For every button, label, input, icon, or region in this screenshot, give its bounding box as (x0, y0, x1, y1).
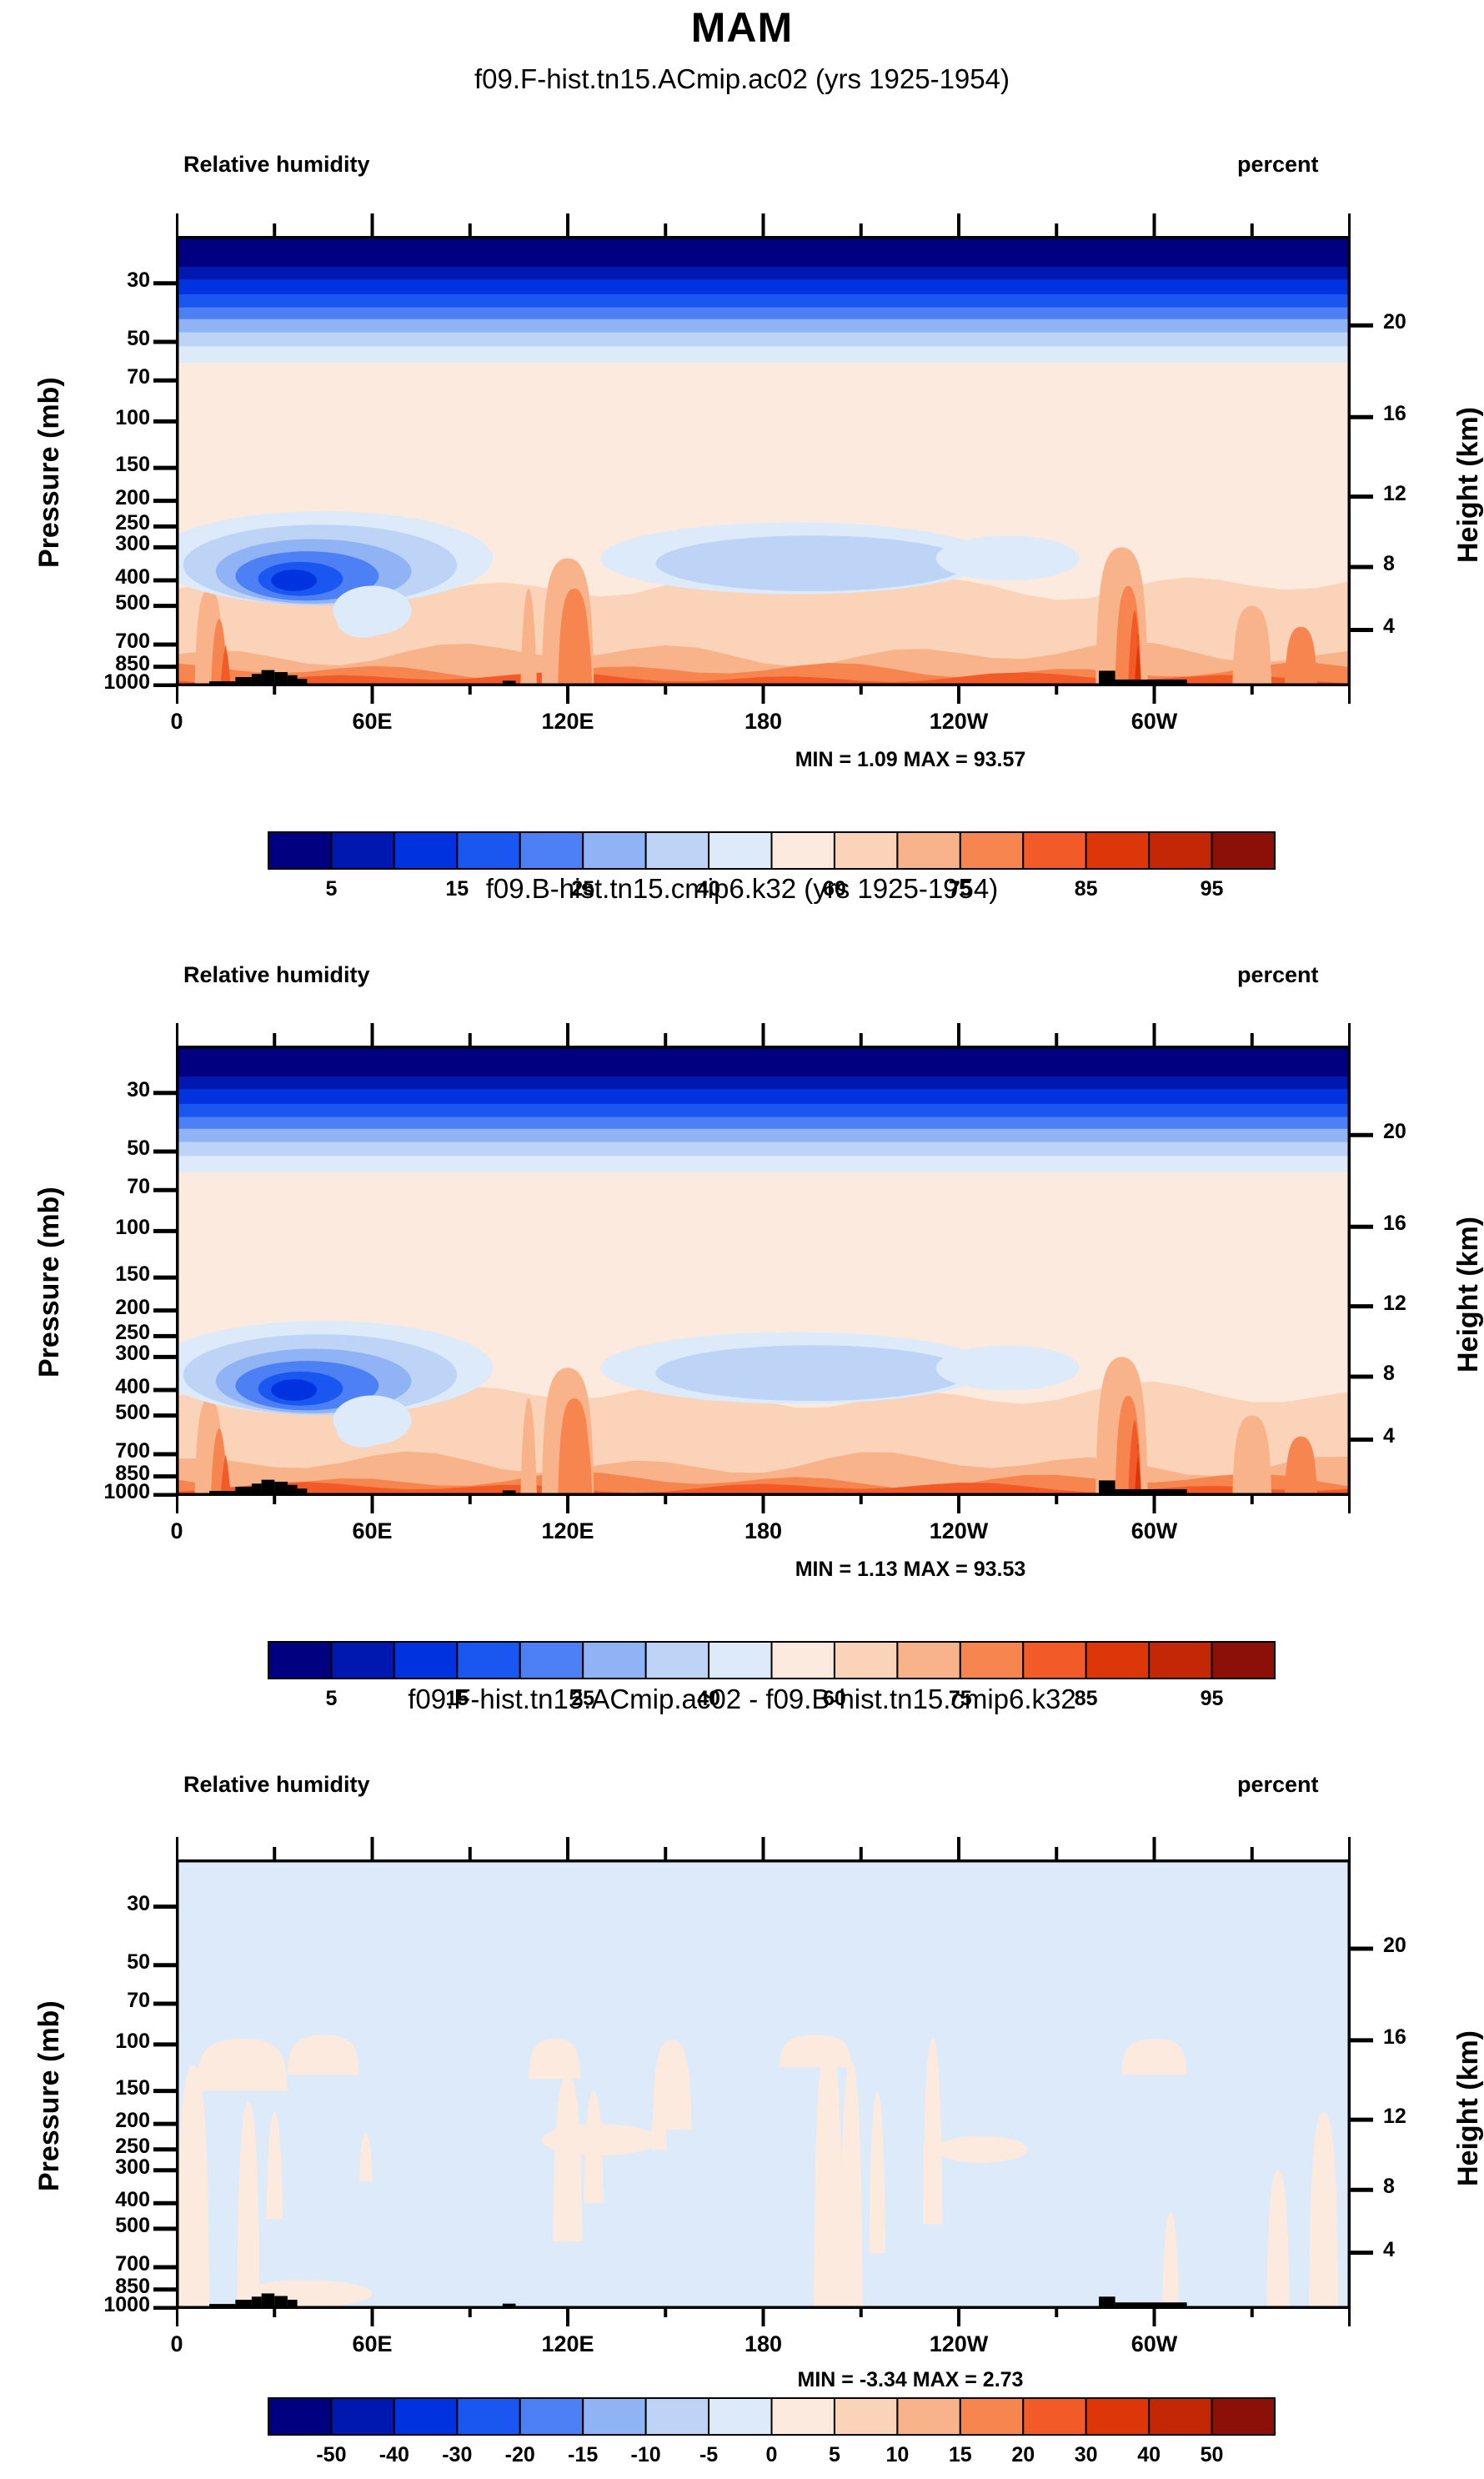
panel-1-minmax: MIN = 1.09 MAX = 93.57 (677, 748, 1144, 772)
panel-1-lon-tick: 0 (118, 709, 235, 735)
panel-1-height-tick: 4 (1383, 615, 1458, 639)
panel-3-units-label: percent (1237, 1772, 1319, 1798)
panel-2-lon-tick: 180 (705, 1518, 822, 1544)
panel-3-variable-label: Relative humidity (183, 1772, 370, 1798)
panel-1-height-tick: 8 (1383, 552, 1458, 576)
panel-1-pressure-tick: 700 (33, 630, 150, 654)
panel-1-height-tick: 12 (1383, 482, 1458, 506)
panel-1-colorbar (267, 831, 1276, 871)
panel-2-pressure-tick: 200 (33, 1296, 150, 1320)
panel-2-height-tick: 16 (1383, 1212, 1458, 1236)
panel-3-height-tick: 20 (1383, 1934, 1458, 1958)
panel-2-colorbar-label: 95 (1162, 1687, 1262, 1711)
panel-1-pressure-tick: 1000 (33, 670, 150, 695)
panel-2-lon-tick: 60E (314, 1518, 431, 1544)
panel-1-colorbar-label: 75 (910, 877, 1010, 901)
panel-1-height-tick: 20 (1383, 310, 1458, 334)
panel-1-title: f09.F-hist.tn15.ACmip.ac02 (yrs 1925-195… (0, 63, 1484, 95)
panel-3-pressure-tick: 1000 (33, 2293, 150, 2317)
panel-1-variable-label: Relative humidity (183, 152, 370, 178)
panel-2-pressure-tick: 70 (33, 1175, 150, 1199)
panel-3-pressure-tick: 300 (33, 2155, 150, 2180)
panel-2-colorbar-label: 25 (533, 1687, 633, 1711)
panel-2-plot (176, 1046, 1351, 1496)
panel-2-lon-tick: 60W (1096, 1518, 1213, 1544)
panel-1-colorbar-label: 40 (659, 877, 759, 901)
panel-3-colorbar-label: 50 (1162, 2443, 1262, 2467)
panel-2-colorbar (267, 1640, 1276, 1680)
panel-3-lon-tick: 180 (705, 2331, 822, 2357)
panel-1-units-label: percent (1237, 152, 1319, 178)
panel-3-pressure-tick: 150 (33, 2076, 150, 2100)
panel-3-height-tick: 16 (1383, 2025, 1458, 2050)
panel-2-colorbar-label: 40 (659, 1687, 759, 1711)
panel-1-colorbar-label: 15 (407, 877, 507, 901)
panel-3-minmax: MIN = -3.34 MAX = 2.73 (677, 2368, 1144, 2392)
panel-1-pressure-tick: 30 (33, 268, 150, 293)
panel-2-colorbar-label: 60 (785, 1687, 885, 1711)
panel-2-minmax: MIN = 1.13 MAX = 93.53 (677, 1558, 1144, 1582)
panel-2-height-tick: 20 (1383, 1120, 1458, 1144)
panel-2-pressure-tick: 300 (33, 1342, 150, 1366)
panel-1-lon-tick: 180 (705, 709, 822, 735)
panel-1-pressure-tick: 50 (33, 327, 150, 351)
panel-2-height-tick: 4 (1383, 1424, 1458, 1448)
panel-2-pressure-tick: 30 (33, 1078, 150, 1102)
panel-1-lon-tick: 120W (900, 709, 1017, 735)
panel-1-colorbar-label: 95 (1162, 877, 1262, 901)
panel-2-colorbar-label: 15 (407, 1687, 507, 1711)
panel-1-pressure-tick: 400 (33, 565, 150, 590)
panel-1-pressure-tick: 150 (33, 453, 150, 477)
panel-3-height-tick: 12 (1383, 2105, 1458, 2129)
panel-2-lon-tick: 0 (118, 1518, 235, 1544)
panel-1-lon-tick: 120E (509, 709, 626, 735)
panel-2-height-tick: 12 (1383, 1292, 1458, 1316)
panel-3-pressure-tick: 100 (33, 2030, 150, 2054)
panel-2-pressure-tick: 700 (33, 1439, 150, 1463)
panel-2-pressure-tick: 500 (33, 1401, 150, 1425)
panel-1-pressure-tick: 70 (33, 365, 150, 389)
panel-3-height-tick: 4 (1383, 2238, 1458, 2262)
panel-2-height-tick: 8 (1383, 1362, 1458, 1386)
panel-1-pressure-tick: 300 (33, 532, 150, 556)
panel-1-height-tick: 16 (1383, 402, 1458, 426)
panel-2-pressure-tick: 150 (33, 1262, 150, 1287)
panel-2-colorbar-label: 85 (1036, 1687, 1136, 1711)
panel-2-lon-tick: 120W (900, 1518, 1017, 1544)
panel-1-pressure-tick: 100 (33, 406, 150, 430)
panel-3-pressure-tick: 700 (33, 2252, 150, 2276)
panel-3-pressure-tick: 30 (33, 1892, 150, 1916)
panel-3-pressure-tick: 400 (33, 2188, 150, 2212)
panel-1-pressure-tick: 200 (33, 486, 150, 510)
panel-3-height-tick: 8 (1383, 2175, 1458, 2199)
panel-3-plot (176, 1859, 1351, 2309)
panel-1-pressure-tick: 500 (33, 591, 150, 615)
panel-1-colorbar-label: 25 (533, 877, 633, 901)
panel-1-colorbar-label: 5 (281, 877, 381, 901)
panel-2-colorbar-label: 5 (281, 1687, 381, 1711)
panel-3-lon-tick: 120E (509, 2331, 626, 2357)
panel-1-lon-tick: 60E (314, 709, 431, 735)
panel-2-pressure-tick: 400 (33, 1375, 150, 1399)
panel-3-pressure-tick: 200 (33, 2109, 150, 2133)
panel-2-colorbar-label: 75 (910, 1687, 1010, 1711)
panel-2-pressure-tick: 100 (33, 1216, 150, 1240)
panel-2-pressure-tick: 1000 (33, 1480, 150, 1504)
panel-1-plot (176, 236, 1351, 686)
panel-3-lon-tick: 60E (314, 2331, 431, 2357)
panel-3-lon-tick: 120W (900, 2331, 1017, 2357)
panel-1-colorbar-label: 60 (785, 877, 885, 901)
panel-3-lon-tick: 0 (118, 2331, 235, 2357)
panel-3-pressure-tick: 70 (33, 1989, 150, 2013)
panel-2-pressure-tick: 50 (33, 1137, 150, 1161)
panel-3-lon-tick: 60W (1096, 2331, 1213, 2357)
page-title: MAM (0, 3, 1484, 52)
panel-3-pressure-tick: 500 (33, 2214, 150, 2238)
panel-3-colorbar (267, 2396, 1276, 2436)
panel-1-lon-tick: 60W (1096, 709, 1213, 735)
panel-3-pressure-tick: 50 (33, 1950, 150, 1975)
figure-page: MAM f09.F-hist.tn15.ACmip.ac02 (yrs 1925… (0, 0, 1484, 2479)
panel-1-colorbar-label: 85 (1036, 877, 1136, 901)
panel-2-units-label: percent (1237, 962, 1319, 988)
panel-2-variable-label: Relative humidity (183, 962, 370, 988)
panel-2-lon-tick: 120E (509, 1518, 626, 1544)
